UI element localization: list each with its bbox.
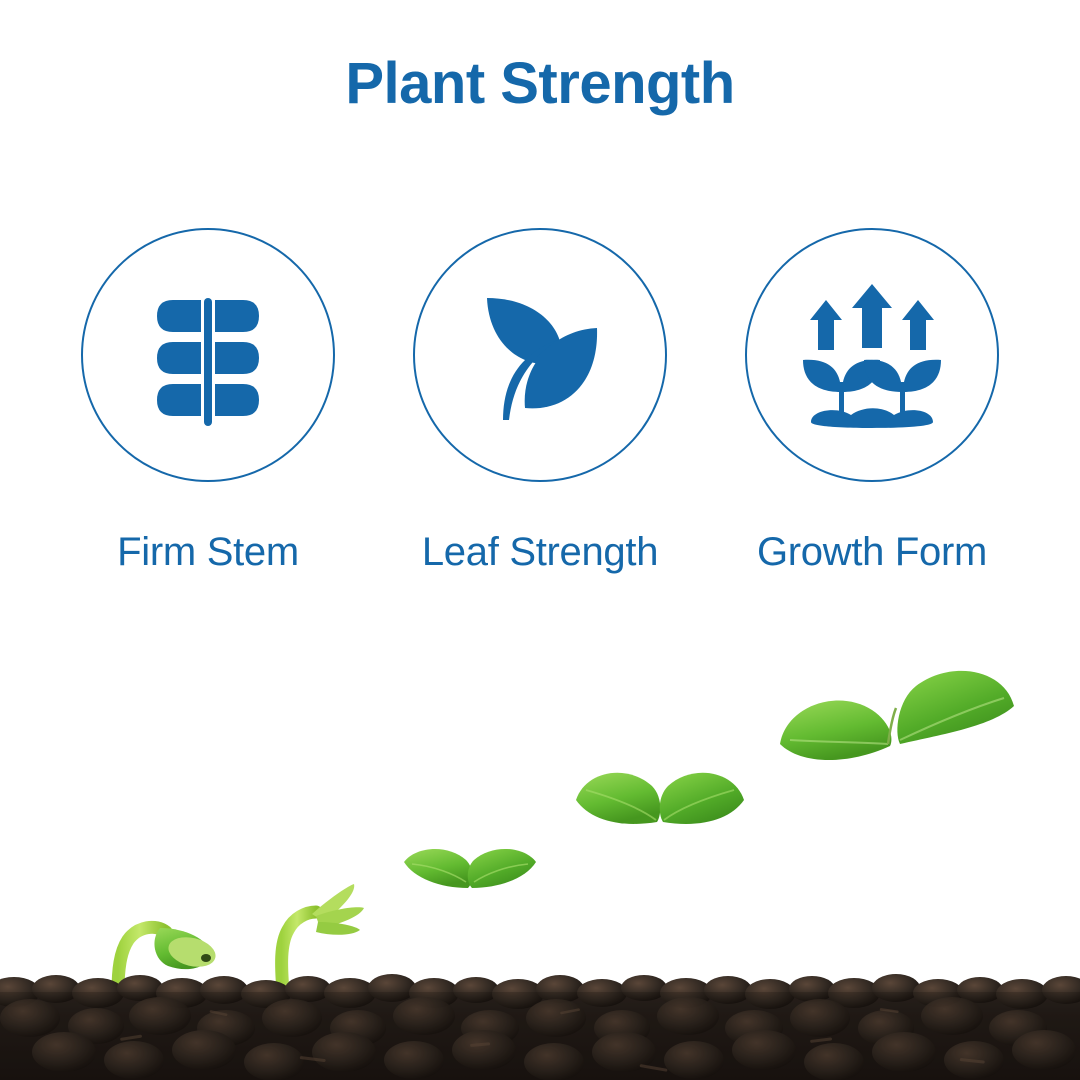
feature-row: Firm Stem [0,228,1080,575]
growth-arrows-sprouts-icon [797,282,947,428]
feature-icon-circle [745,228,999,482]
page-title: Plant Strength [0,54,1080,115]
feature-label: Firm Stem [117,530,299,575]
feature-growth-form[interactable]: Growth Form [734,228,1010,575]
wheat-stalk-icon [143,280,273,430]
feature-label: Growth Form [757,530,987,575]
seedling-stage-2 [282,884,364,992]
feature-leaf-strength[interactable]: Leaf Strength [402,228,678,575]
feature-label: Leaf Strength [422,530,658,575]
seedling-stage-4 [576,773,744,992]
soil-layer [0,974,1080,1080]
seedling-stage-3 [404,849,536,992]
infographic-canvas: Plant Strength [0,0,1080,1080]
feature-icon-circle [81,228,335,482]
two-leaves-icon [465,280,615,430]
seedling-growth-photo [0,640,1080,1080]
seedling-stage-5 [780,671,1014,992]
feature-icon-circle [413,228,667,482]
feature-firm-stem[interactable]: Firm Stem [70,228,346,575]
